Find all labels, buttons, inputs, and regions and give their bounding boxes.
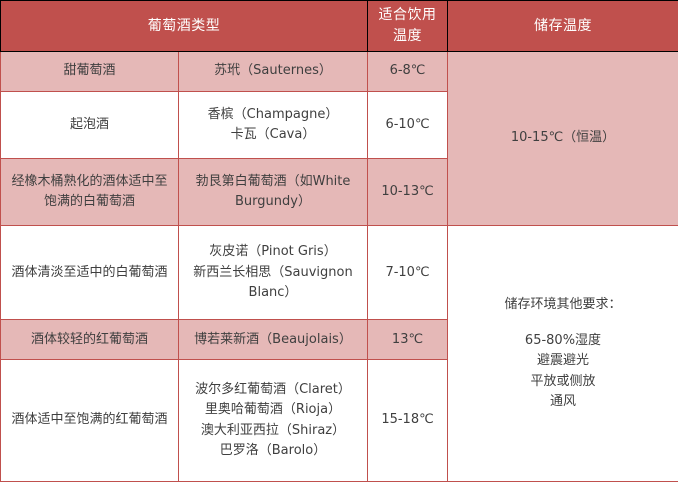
table-body: 甜葡萄酒 苏玳（Sauternes） 6-8℃ 10-15℃（恒温） 起泡酒 香…: [1, 52, 678, 482]
cell-wine-type: 酒体清淡至适中的白葡萄酒: [1, 225, 179, 320]
wine-example: 巴罗洛（Barolo）: [185, 441, 361, 461]
header-serving-temp-line2: 温度: [374, 26, 441, 47]
header-row: 葡萄酒类型 适合饮用 温度 储存温度: [1, 1, 678, 52]
wine-example: 香槟（Champagne）: [185, 105, 361, 125]
cell-wine-examples: 灰皮诺（Pinot Gris） 新西兰长相思（Sauvignon Blanc）: [179, 225, 368, 320]
storage-requirement-item: 通风: [454, 392, 672, 412]
storage-requirement-item: 避震避光: [454, 351, 672, 371]
cell-serving-temp: 15-18℃: [368, 360, 448, 482]
cell-wine-examples: 苏玳（Sauternes）: [179, 52, 368, 92]
header-storage-temp: 储存温度: [448, 1, 678, 52]
cell-wine-examples: 香槟（Champagne） 卡瓦（Cava）: [179, 91, 368, 158]
table-row: 甜葡萄酒 苏玳（Sauternes） 6-8℃ 10-15℃（恒温）: [1, 52, 678, 92]
header-serving-temp-line1: 适合饮用: [374, 5, 441, 26]
header-serving-temp: 适合饮用 温度: [368, 1, 448, 52]
table-header: 葡萄酒类型 适合饮用 温度 储存温度: [1, 1, 678, 52]
cell-wine-type: 酒体适中至饱满的红葡萄酒: [1, 360, 179, 482]
wine-example: 澳大利亚西拉（Shiraz）: [185, 421, 361, 441]
cell-wine-type: 起泡酒: [1, 91, 179, 158]
spacer: [454, 315, 672, 331]
wine-example: 波尔多红葡萄酒（Claret）: [185, 380, 361, 400]
cell-wine-examples: 波尔多红葡萄酒（Claret） 里奥哈葡萄酒（Rioja） 澳大利亚西拉（Shi…: [179, 360, 368, 482]
storage-requirement-item: 65-80%湿度: [454, 331, 672, 351]
cell-serving-temp: 13℃: [368, 320, 448, 360]
cell-serving-temp: 6-10℃: [368, 91, 448, 158]
storage-requirements-heading: 储存环境其他要求：: [454, 295, 672, 315]
cell-wine-examples: 博若莱新酒（Beaujolais）: [179, 320, 368, 360]
cell-wine-type: 酒体较轻的红葡萄酒: [1, 320, 179, 360]
cell-storage-requirements: 储存环境其他要求： 65-80%湿度 避震避光 平放或侧放 通风: [448, 225, 678, 481]
wine-example: 新西兰长相思（Sauvignon Blanc）: [185, 263, 361, 303]
table-row: 酒体清淡至适中的白葡萄酒 灰皮诺（Pinot Gris） 新西兰长相思（Sauv…: [1, 225, 678, 320]
cell-serving-temp: 7-10℃: [368, 225, 448, 320]
wine-example: 博若莱新酒（Beaujolais）: [185, 330, 361, 350]
wine-temperature-table: 葡萄酒类型 适合饮用 温度 储存温度 甜葡萄酒 苏玳（Sauternes） 6-…: [0, 0, 678, 482]
wine-example: 勃艮第白葡萄酒（如White Burgundy）: [185, 172, 361, 212]
wine-example: 苏玳（Sauternes）: [185, 61, 361, 81]
cell-serving-temp: 6-8℃: [368, 52, 448, 92]
cell-wine-type: 经橡木桶熟化的酒体适中至饱满的白葡萄酒: [1, 158, 179, 225]
cell-serving-temp: 10-13℃: [368, 158, 448, 225]
wine-example: 卡瓦（Cava）: [185, 125, 361, 145]
cell-wine-type: 甜葡萄酒: [1, 52, 179, 92]
storage-requirement-item: 平放或侧放: [454, 372, 672, 392]
wine-example: 灰皮诺（Pinot Gris）: [185, 242, 361, 262]
cell-wine-examples: 勃艮第白葡萄酒（如White Burgundy）: [179, 158, 368, 225]
header-wine-type: 葡萄酒类型: [1, 1, 368, 52]
cell-storage-temp: 10-15℃（恒温）: [448, 52, 678, 226]
wine-example: 里奥哈葡萄酒（Rioja）: [185, 400, 361, 420]
